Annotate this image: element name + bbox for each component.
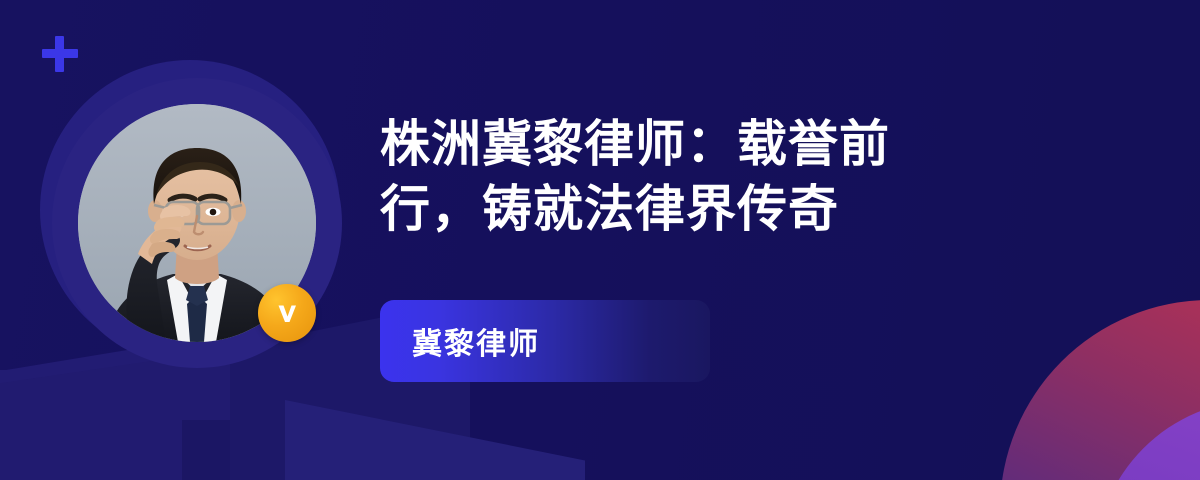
article-banner: 株洲冀黎律师：载誉前 行，铸就法律界传奇 冀黎律师	[0, 0, 1200, 480]
verified-badge-icon	[258, 284, 316, 342]
author-cta-button[interactable]: 冀黎律师	[380, 300, 710, 382]
page-title: 株洲冀黎律师：载誉前 行，铸就法律界传奇	[380, 112, 1100, 242]
avatar[interactable]	[52, 78, 342, 368]
plus-decoration-icon	[42, 36, 78, 72]
headline-block: 株洲冀黎律师：载誉前 行，铸就法律界传奇	[380, 112, 1100, 242]
